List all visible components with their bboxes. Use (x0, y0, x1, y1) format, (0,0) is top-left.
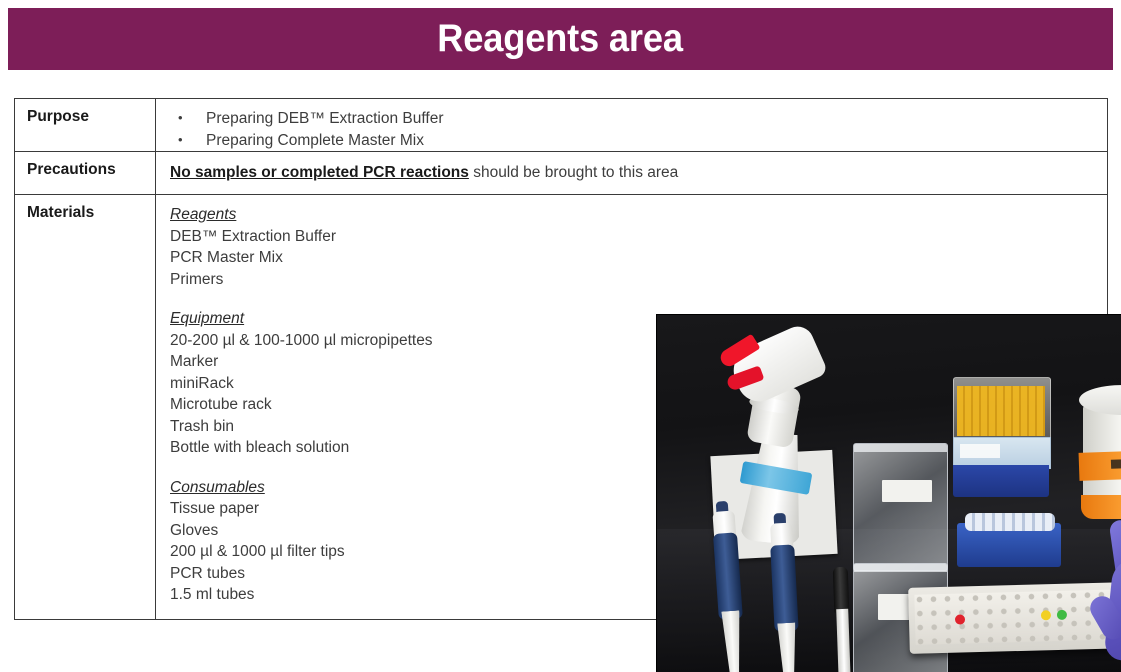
list-item: PCR tubes (170, 563, 520, 585)
list-item: 1.5 ml tubes (170, 584, 520, 606)
materials-group-reagents: Reagents DEB™ Extraction Buffer PCR Mast… (170, 204, 520, 290)
list-item: Tissue paper (170, 498, 520, 520)
table-row-precautions: Precautions No samples or completed PCR … (15, 152, 1107, 195)
list-item: Primers (170, 269, 520, 291)
tip-box-lid (953, 377, 1051, 441)
jar-band-text (1111, 458, 1121, 469)
list-item: miniRack (170, 373, 520, 395)
tip-box-base (953, 465, 1049, 497)
mini-rack-with-tube-strips (957, 511, 1061, 567)
list-item: Trash bin (170, 416, 520, 438)
row-label-precautions: Precautions (15, 152, 156, 194)
precaution-rest: should be brought to this area (469, 164, 678, 181)
bag-label (882, 480, 932, 502)
materials-wrapper: Reagents DEB™ Extraction Buffer PCR Mast… (170, 204, 1107, 606)
table-row-materials: Materials Reagents DEB™ Extraction Buffe… (15, 195, 1107, 619)
filter-tip-box (953, 377, 1049, 495)
list-item: Gloves (170, 520, 520, 542)
group-heading: Equipment (170, 308, 520, 330)
list-item: 20-200 µl & 100-1000 µl micropipettes (170, 330, 520, 352)
list-item: Microtube rack (170, 394, 520, 416)
list-item: Marker (170, 351, 520, 373)
microtube-rack-96-well (908, 582, 1121, 654)
pcr-tube-strips (965, 513, 1055, 531)
zip-bag-of-pcr-tubes (853, 443, 948, 571)
list-item: PCR Master Mix (170, 247, 520, 269)
purpose-bullet-list: Preparing DEB™ Extraction Buffer Prepari… (170, 108, 1107, 151)
list-item: Preparing DEB™ Extraction Buffer (170, 108, 1107, 130)
row-content-materials: Reagents DEB™ Extraction Buffer PCR Mast… (156, 195, 1107, 619)
list-item: Bottle with bleach solution (170, 437, 520, 459)
filter-tips (957, 386, 1045, 436)
spray-bottle-head (725, 322, 828, 409)
materials-text-column: Reagents DEB™ Extraction Buffer PCR Mast… (170, 204, 520, 606)
row-content-purpose: Preparing DEB™ Extraction Buffer Prepari… (156, 99, 1107, 151)
materials-group-consumables: Consumables Tissue paper Gloves 200 µl &… (170, 477, 520, 606)
precaution-emphasis: No samples or completed PCR reactions (170, 164, 469, 181)
rack-wells (914, 589, 1121, 644)
row-label-purpose: Purpose (15, 99, 156, 151)
reagents-area-table: Purpose Preparing DEB™ Extraction Buffer… (14, 98, 1108, 620)
page-title: Reagents area (438, 17, 684, 61)
reagents-area-photo (657, 315, 1121, 672)
marker-body (836, 609, 850, 672)
materials-group-equipment: Equipment 20-200 µl & 100-1000 µl microp… (170, 308, 520, 459)
table-row-purpose: Purpose Preparing DEB™ Extraction Buffer… (15, 99, 1107, 152)
pipette-shaft (721, 610, 745, 672)
marker-cap (833, 567, 850, 613)
precaution-text: No samples or completed PCR reactions sh… (170, 161, 1107, 183)
group-heading: Consumables (170, 477, 520, 499)
page-banner: Reagents area (8, 8, 1113, 70)
tip-box-label (960, 444, 1000, 458)
pipette-body (713, 532, 743, 619)
list-item: DEB™ Extraction Buffer (170, 226, 520, 248)
pipette-body (770, 544, 798, 631)
list-item: 200 µl & 1000 µl filter tips (170, 541, 520, 563)
row-label-materials: Materials (15, 195, 156, 619)
list-item: Preparing Complete Master Mix (170, 130, 1107, 152)
trash-bin-jar (1077, 385, 1121, 520)
row-content-precautions: No samples or completed PCR reactions sh… (156, 152, 1107, 194)
group-heading: Reagents (170, 204, 520, 226)
